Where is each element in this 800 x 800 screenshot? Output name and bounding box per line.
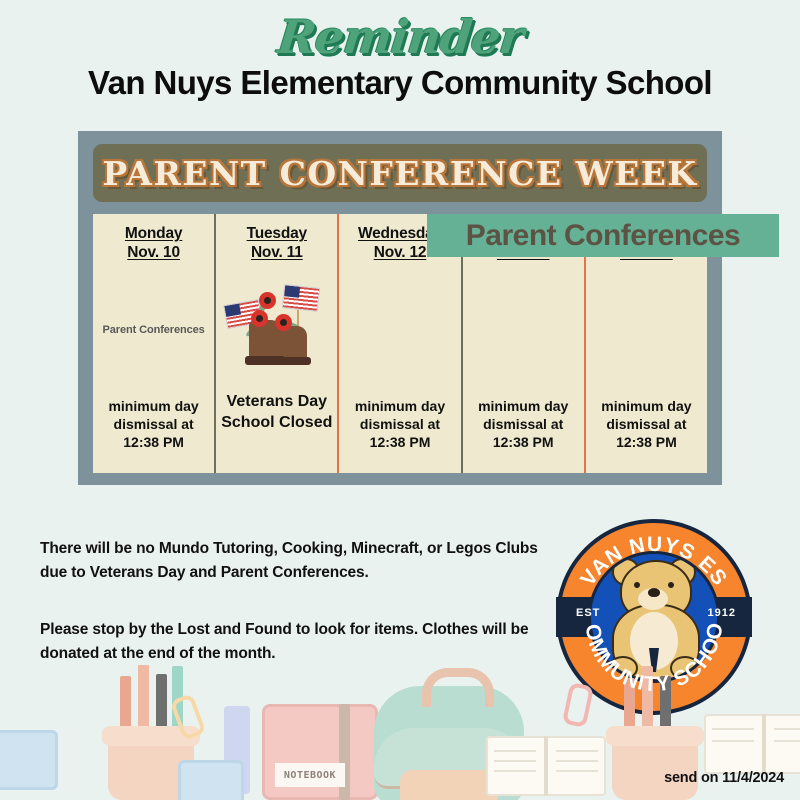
day-date: Nov. 11: [251, 243, 303, 262]
announcements: There will be no Mundo Tutoring, Cooking…: [40, 537, 540, 666]
pencil-cup-icon: [612, 736, 698, 800]
booklet-icon: [178, 760, 244, 800]
calendar-day-tuesday: Tuesday Nov. 11 Veterans Day School Clos…: [214, 214, 337, 473]
announcement-clubs: There will be no Mundo Tutoring, Cooking…: [40, 537, 540, 585]
page-title: Van Nuys Elementary Community School: [0, 64, 800, 102]
reminder-header: Reminder: [0, 0, 800, 58]
day-date: Nov. 12: [374, 243, 427, 262]
calendar-banner: PARENT CONFERENCE WEEK: [93, 144, 707, 202]
open-book-icon: [486, 736, 606, 796]
logo-year: 1912: [708, 607, 736, 619]
day-note: Parent Conferences: [103, 324, 205, 336]
day-body-wednesday: [339, 262, 460, 397]
announcement-lost-and-found: Please stop by the Lost and Found to loo…: [40, 618, 540, 666]
day-name: Monday: [125, 224, 182, 243]
booklet-icon: [0, 730, 58, 790]
notebook-label: NOTEBOOK: [275, 763, 345, 787]
day-dismissal: minimum day dismissal at 12:38 PM: [93, 397, 214, 473]
calendar-day-monday: Monday Nov. 10 Parent Conferences minimu…: [93, 214, 214, 473]
logo-top-text-path: VAN NUYS ES: [576, 533, 731, 590]
logo-est-label: EST: [576, 607, 600, 619]
open-book-icon: [704, 714, 800, 774]
day-name: Tuesday: [247, 224, 307, 243]
day-body-monday: Parent Conferences: [93, 262, 214, 397]
calendar-banner-title: PARENT CONFERENCE WEEK: [102, 154, 697, 193]
parent-conferences-band-label: Parent Conferences: [466, 219, 740, 253]
notebook-icon: NOTEBOOK: [262, 704, 378, 800]
day-date: Nov. 10: [127, 243, 180, 262]
send-on-timestamp: send on 11/4/2024: [664, 770, 784, 786]
day-dismissal: minimum day dismissal at 12:38 PM: [339, 397, 460, 473]
day-body-thursday: [463, 262, 584, 397]
calendar-frame: PARENT CONFERENCE WEEK Monday Nov. 10 Pa…: [78, 131, 722, 485]
day-dismissal: minimum day dismissal at 12:38 PM: [586, 397, 707, 473]
day-status: Veterans Day School Closed: [216, 391, 337, 473]
reminder-script-text: Reminder: [275, 14, 525, 60]
veterans-boots-poppies-flags-icon: [225, 284, 329, 370]
day-body-tuesday: [216, 262, 337, 391]
day-body-friday: [586, 262, 707, 397]
school-logo-badge: VAN NUYS ES COMMUNITY SCHOOL EST 1912: [556, 519, 752, 715]
parent-conferences-band: Parent Conferences: [427, 214, 779, 257]
day-dismissal: minimum day dismissal at 12:38 PM: [463, 397, 584, 473]
